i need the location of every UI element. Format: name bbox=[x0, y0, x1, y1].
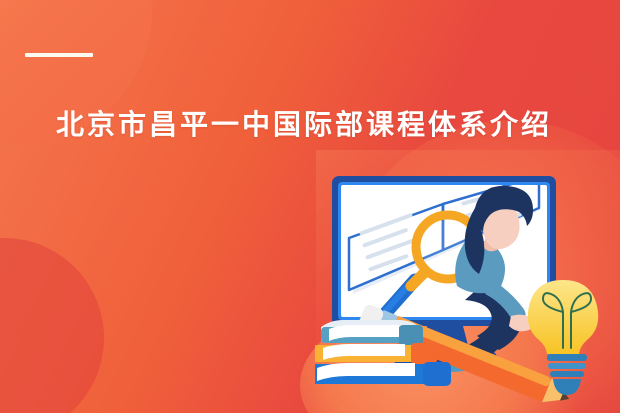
accent-rule bbox=[25, 53, 93, 57]
book-top bbox=[321, 320, 423, 345]
book-middle bbox=[315, 343, 437, 364]
book-bottom bbox=[315, 362, 451, 386]
poster-canvas: 北京市昌平一中国际部课程体系介绍 bbox=[0, 0, 620, 413]
page-title: 北京市昌平一中国际部课程体系介绍 bbox=[56, 108, 552, 142]
hero-illustration bbox=[315, 168, 615, 413]
background-circle-bottom-left bbox=[0, 238, 104, 413]
